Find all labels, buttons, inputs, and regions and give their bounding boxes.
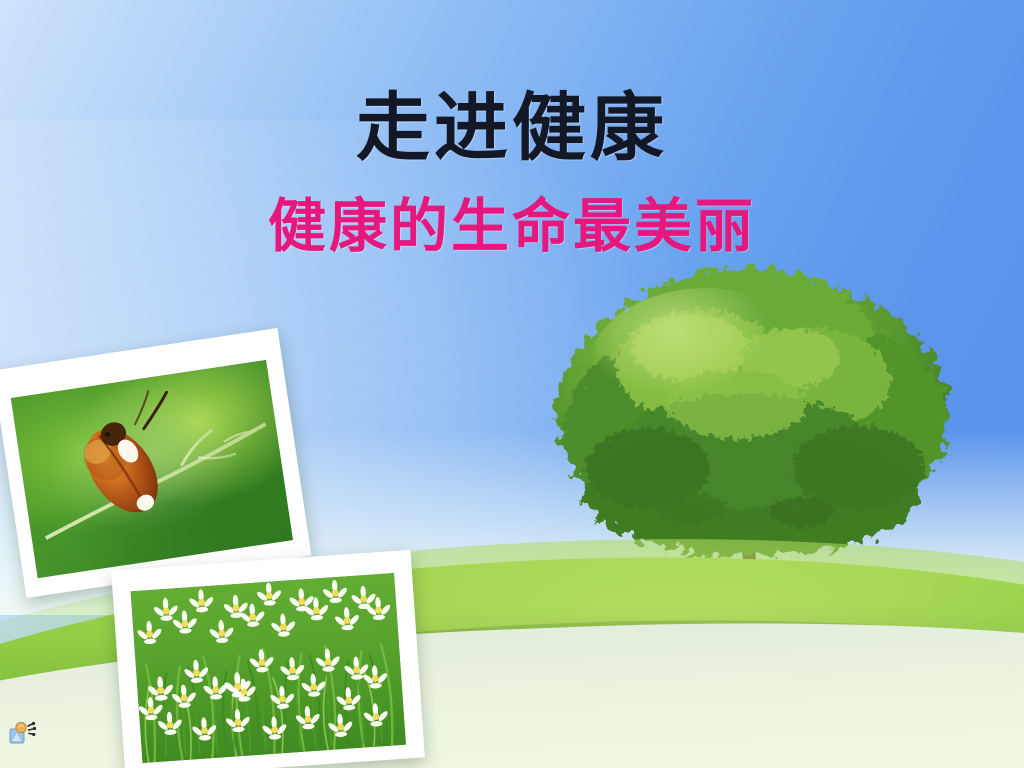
daisy-field-photo[interactable] (111, 550, 425, 768)
daisy-field-illustration (131, 573, 406, 763)
beetle-photo-image (11, 360, 293, 578)
slide-title: 走进健康 (0, 92, 1024, 166)
presentation-slide: 走进健康 健康的生命最美丽 (0, 0, 1024, 768)
beetle-photo[interactable] (0, 328, 311, 598)
sound-icon[interactable] (8, 720, 38, 748)
daisy-photo-image (131, 573, 406, 763)
beetle-illustration (11, 360, 293, 578)
slide-subtitle: 健康的生命最美丽 (0, 198, 1024, 256)
